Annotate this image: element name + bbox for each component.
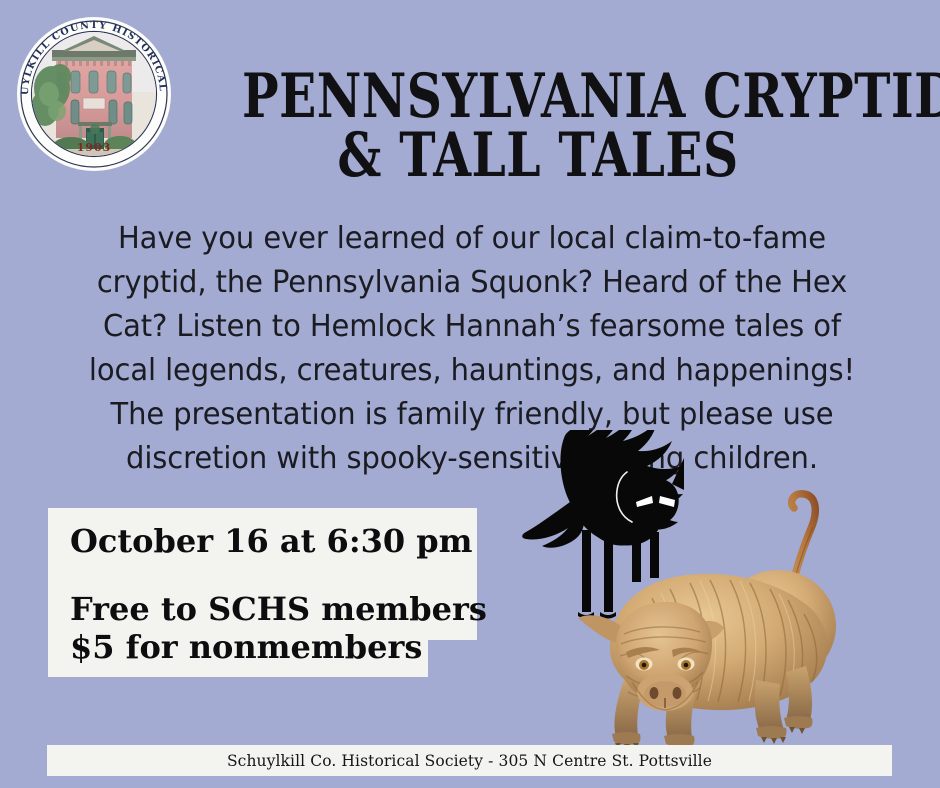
footer-bar: Schuylkill Co. Historical Society - 305 … [47,745,892,776]
poster-canvas: THE SCHUYLKILL COUNTY HISTORICAL SOCIETY… [0,0,940,788]
cat-and-squonk-art [520,430,940,750]
title-line-1: PENNSYLVANIA CRYPTIDES [242,67,834,126]
seal-icon: THE SCHUYLKILL COUNTY HISTORICAL SOCIETY… [16,16,172,172]
price-nonmembers: $5 for nonmembers [70,628,477,666]
historical-society-seal: THE SCHUYLKILL COUNTY HISTORICAL SOCIETY… [16,16,172,172]
price-members: Free to SCHS members [70,590,477,628]
cryptid-illustration [520,430,940,750]
venue-address: Schuylkill Co. Historical Society - 305 … [227,752,712,770]
seal-year: 1903 [77,141,112,154]
event-details: October 16 at 6:30 pm Free to SCHS membe… [48,508,477,677]
page-title: PENNSYLVANIA CRYPTIDES & TALL TALES [242,67,834,185]
title-line-2: & TALL TALES [242,126,834,185]
event-datetime: October 16 at 6:30 pm [70,522,477,560]
